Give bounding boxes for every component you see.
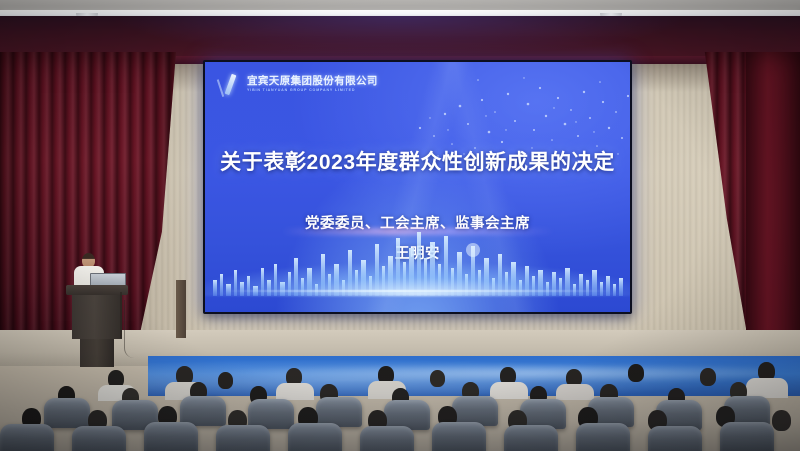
tianyuan-logo-mark-icon (219, 73, 241, 95)
audience-attendee (430, 370, 445, 387)
seated-audience (0, 352, 800, 451)
podium-microphone (120, 292, 122, 338)
company-name-cn: 宜宾天原集团股份有限公司 (247, 76, 378, 87)
podium-top (66, 285, 128, 295)
slide-title: 关于表彰2023年度群众性创新成果的决定 (205, 146, 630, 176)
audience-chair (288, 423, 342, 451)
audience-chair (360, 426, 414, 451)
glowing-city-skyline (205, 224, 630, 312)
audience-attendee (772, 410, 791, 431)
audience-attendee (628, 364, 644, 382)
podium-body (72, 295, 122, 339)
podium-cable (124, 300, 134, 358)
audience-chair (504, 425, 558, 451)
audience-attendee (490, 382, 528, 399)
audience-attendee (746, 378, 788, 398)
company-logo: 宜宾天原集团股份有限公司 YIBIN TIANYUAN GROUP COMPAN… (219, 73, 378, 95)
audience-attendee (218, 372, 233, 389)
audience-chair (648, 426, 702, 451)
audience-chair (432, 422, 486, 451)
audience-attendee (556, 384, 594, 400)
audience-attendee (700, 368, 716, 386)
audience-chair (576, 423, 630, 451)
audience-chair (216, 425, 270, 451)
audience-chair (720, 422, 774, 451)
audience-chair (144, 422, 198, 451)
company-name-en: YIBIN TIANYUAN GROUP COMPANY LIMITED (247, 89, 378, 93)
audience-chair (44, 398, 90, 428)
horizon-line (222, 290, 613, 292)
audience-chair (72, 426, 126, 451)
valance-glow (120, 16, 680, 56)
audience-attendee (276, 383, 314, 400)
conference-hall-scene: 宜宾天原集团股份有限公司 YIBIN TIANYUAN GROUP COMPAN… (0, 0, 800, 451)
stage-side-panel (176, 280, 186, 338)
led-screen-frame: 宜宾天原集团股份有限公司 YIBIN TIANYUAN GROUP COMPAN… (203, 60, 632, 314)
audience-chair (0, 424, 54, 451)
led-screen: 宜宾天原集团股份有限公司 YIBIN TIANYUAN GROUP COMPAN… (205, 62, 630, 312)
